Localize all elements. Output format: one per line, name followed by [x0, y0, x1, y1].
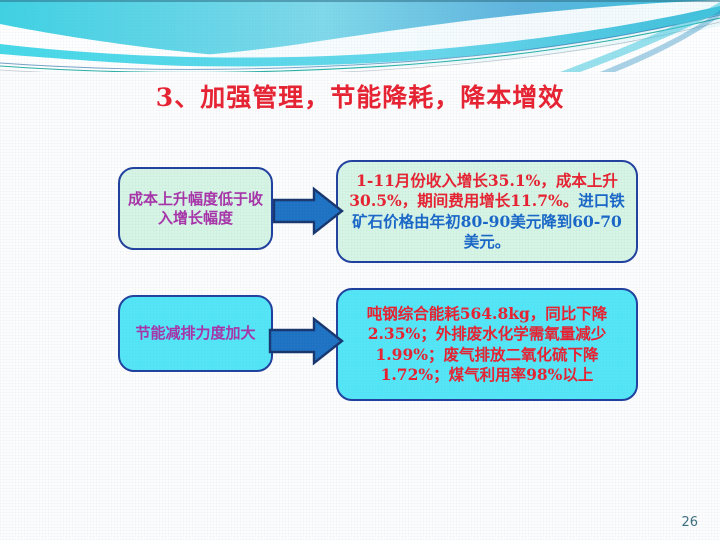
detail-energy-segment-red: 吨钢综合能耗564.8kg，同比下降2.35%；外排废水化学需氧量减少1.99%… [367, 304, 608, 384]
label-box-cost-text: 成本上升幅度低于收入增长幅度 [120, 190, 271, 228]
label-box-energy: 节能减排力度加大 [118, 295, 273, 372]
page-title: 3、加强管理，节能降耗，降本增效 [0, 78, 720, 114]
label-box-energy-text: 节能减排力度加大 [129, 324, 261, 343]
decorative-wave-banner [0, 0, 720, 72]
detail-box-energy-text: 吨钢综合能耗564.8kg，同比下降2.35%；外排废水化学需氧量减少1.99%… [338, 304, 636, 386]
slide-canvas: 3、加强管理，节能降耗，降本增效 成本上升幅度低于收入增长幅度 1-11月份收入… [0, 0, 720, 540]
detail-box-cost: 1-11月份收入增长35.1%，成本上升30.5%，期间费用增长11.7%。进口… [336, 160, 638, 263]
detail-box-energy: 吨钢综合能耗564.8kg，同比下降2.35%；外排废水化学需氧量减少1.99%… [336, 288, 638, 401]
detail-box-cost-text: 1-11月份收入增长35.1%，成本上升30.5%，期间费用增长11.7%。进口… [338, 171, 636, 253]
arrow-right-icon-cost [272, 186, 344, 236]
arrow-right-icon-energy [268, 316, 344, 366]
page-number: 26 [681, 515, 698, 530]
label-box-cost: 成本上升幅度低于收入增长幅度 [118, 167, 273, 250]
